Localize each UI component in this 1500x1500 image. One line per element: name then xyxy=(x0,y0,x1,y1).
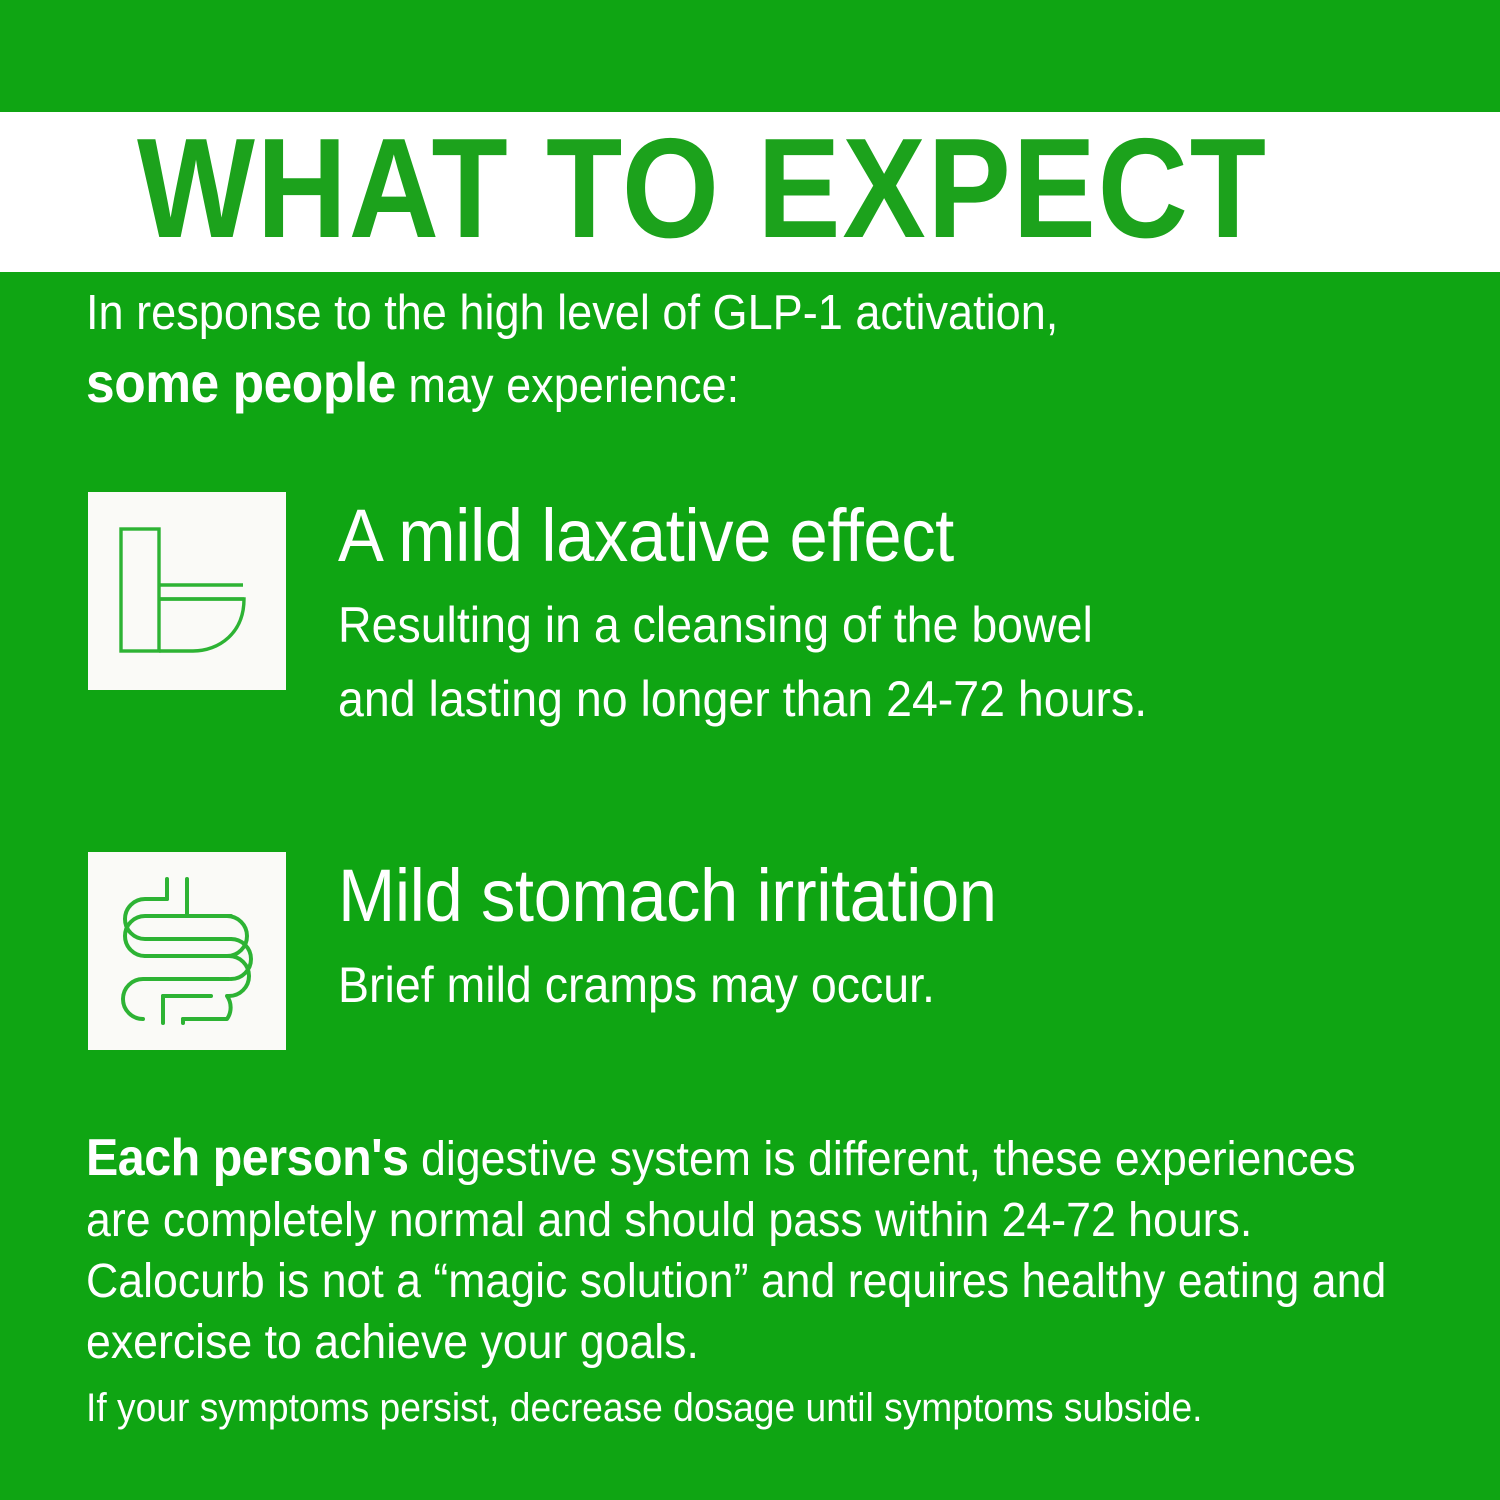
footnote-text: If your symptoms persist, decrease dosag… xyxy=(86,1383,1202,1433)
intro-line-2-rest: may experience: xyxy=(396,359,739,413)
symptom-sub-irritation: Brief mild cramps may occur. xyxy=(338,948,997,1022)
symptom-row-irritation: Mild stomach irritation Brief mild cramp… xyxy=(88,852,1046,1050)
intro-paragraph: In response to the high level of GLP-1 a… xyxy=(86,278,1310,421)
intro-bold-phrase: some people xyxy=(86,351,396,414)
symptom-title-laxative: A mild laxative effect xyxy=(338,494,1147,578)
symptom-text-irritation: Mild stomach irritation Brief mild cramp… xyxy=(338,852,1046,1022)
symptom-sub-irritation-line-1: Brief mild cramps may occur. xyxy=(338,948,997,1022)
symptom-text-laxative: A mild laxative effect Resulting in a cl… xyxy=(338,492,1208,736)
intestine-icon xyxy=(107,871,267,1031)
footer-bold-lead: Each person's xyxy=(86,1129,409,1187)
toilet-icon xyxy=(107,511,267,671)
toilet-icon-box xyxy=(88,492,286,690)
intro-line-2: some people may experience: xyxy=(86,348,1310,421)
page-title: WHAT TO EXPECT xyxy=(137,118,1268,266)
intestine-icon-box xyxy=(88,852,286,1050)
symptom-sub-laxative-line-1: Resulting in a cleansing of the bowel xyxy=(338,588,1147,662)
title-banner: WHAT TO EXPECT xyxy=(0,112,1500,272)
symptom-sub-laxative-line-2: and lasting no longer than 24-72 hours. xyxy=(338,662,1147,736)
symptom-sub-laxative: Resulting in a cleansing of the bowel an… xyxy=(338,588,1147,736)
what-to-expect-poster: WHAT TO EXPECT In response to the high l… xyxy=(0,0,1500,1500)
footer-paragraph-2: Calocurb is not a “magic solution” and r… xyxy=(86,1251,1388,1373)
symptom-title-irritation: Mild stomach irritation xyxy=(338,854,997,938)
symptom-row-laxative: A mild laxative effect Resulting in a cl… xyxy=(88,492,1208,736)
intro-line-1: In response to the high level of GLP-1 a… xyxy=(86,278,1310,348)
footer-paragraph-1: Each person's digestive system is differ… xyxy=(86,1128,1388,1251)
footer-paragraphs: Each person's digestive system is differ… xyxy=(86,1128,1388,1373)
